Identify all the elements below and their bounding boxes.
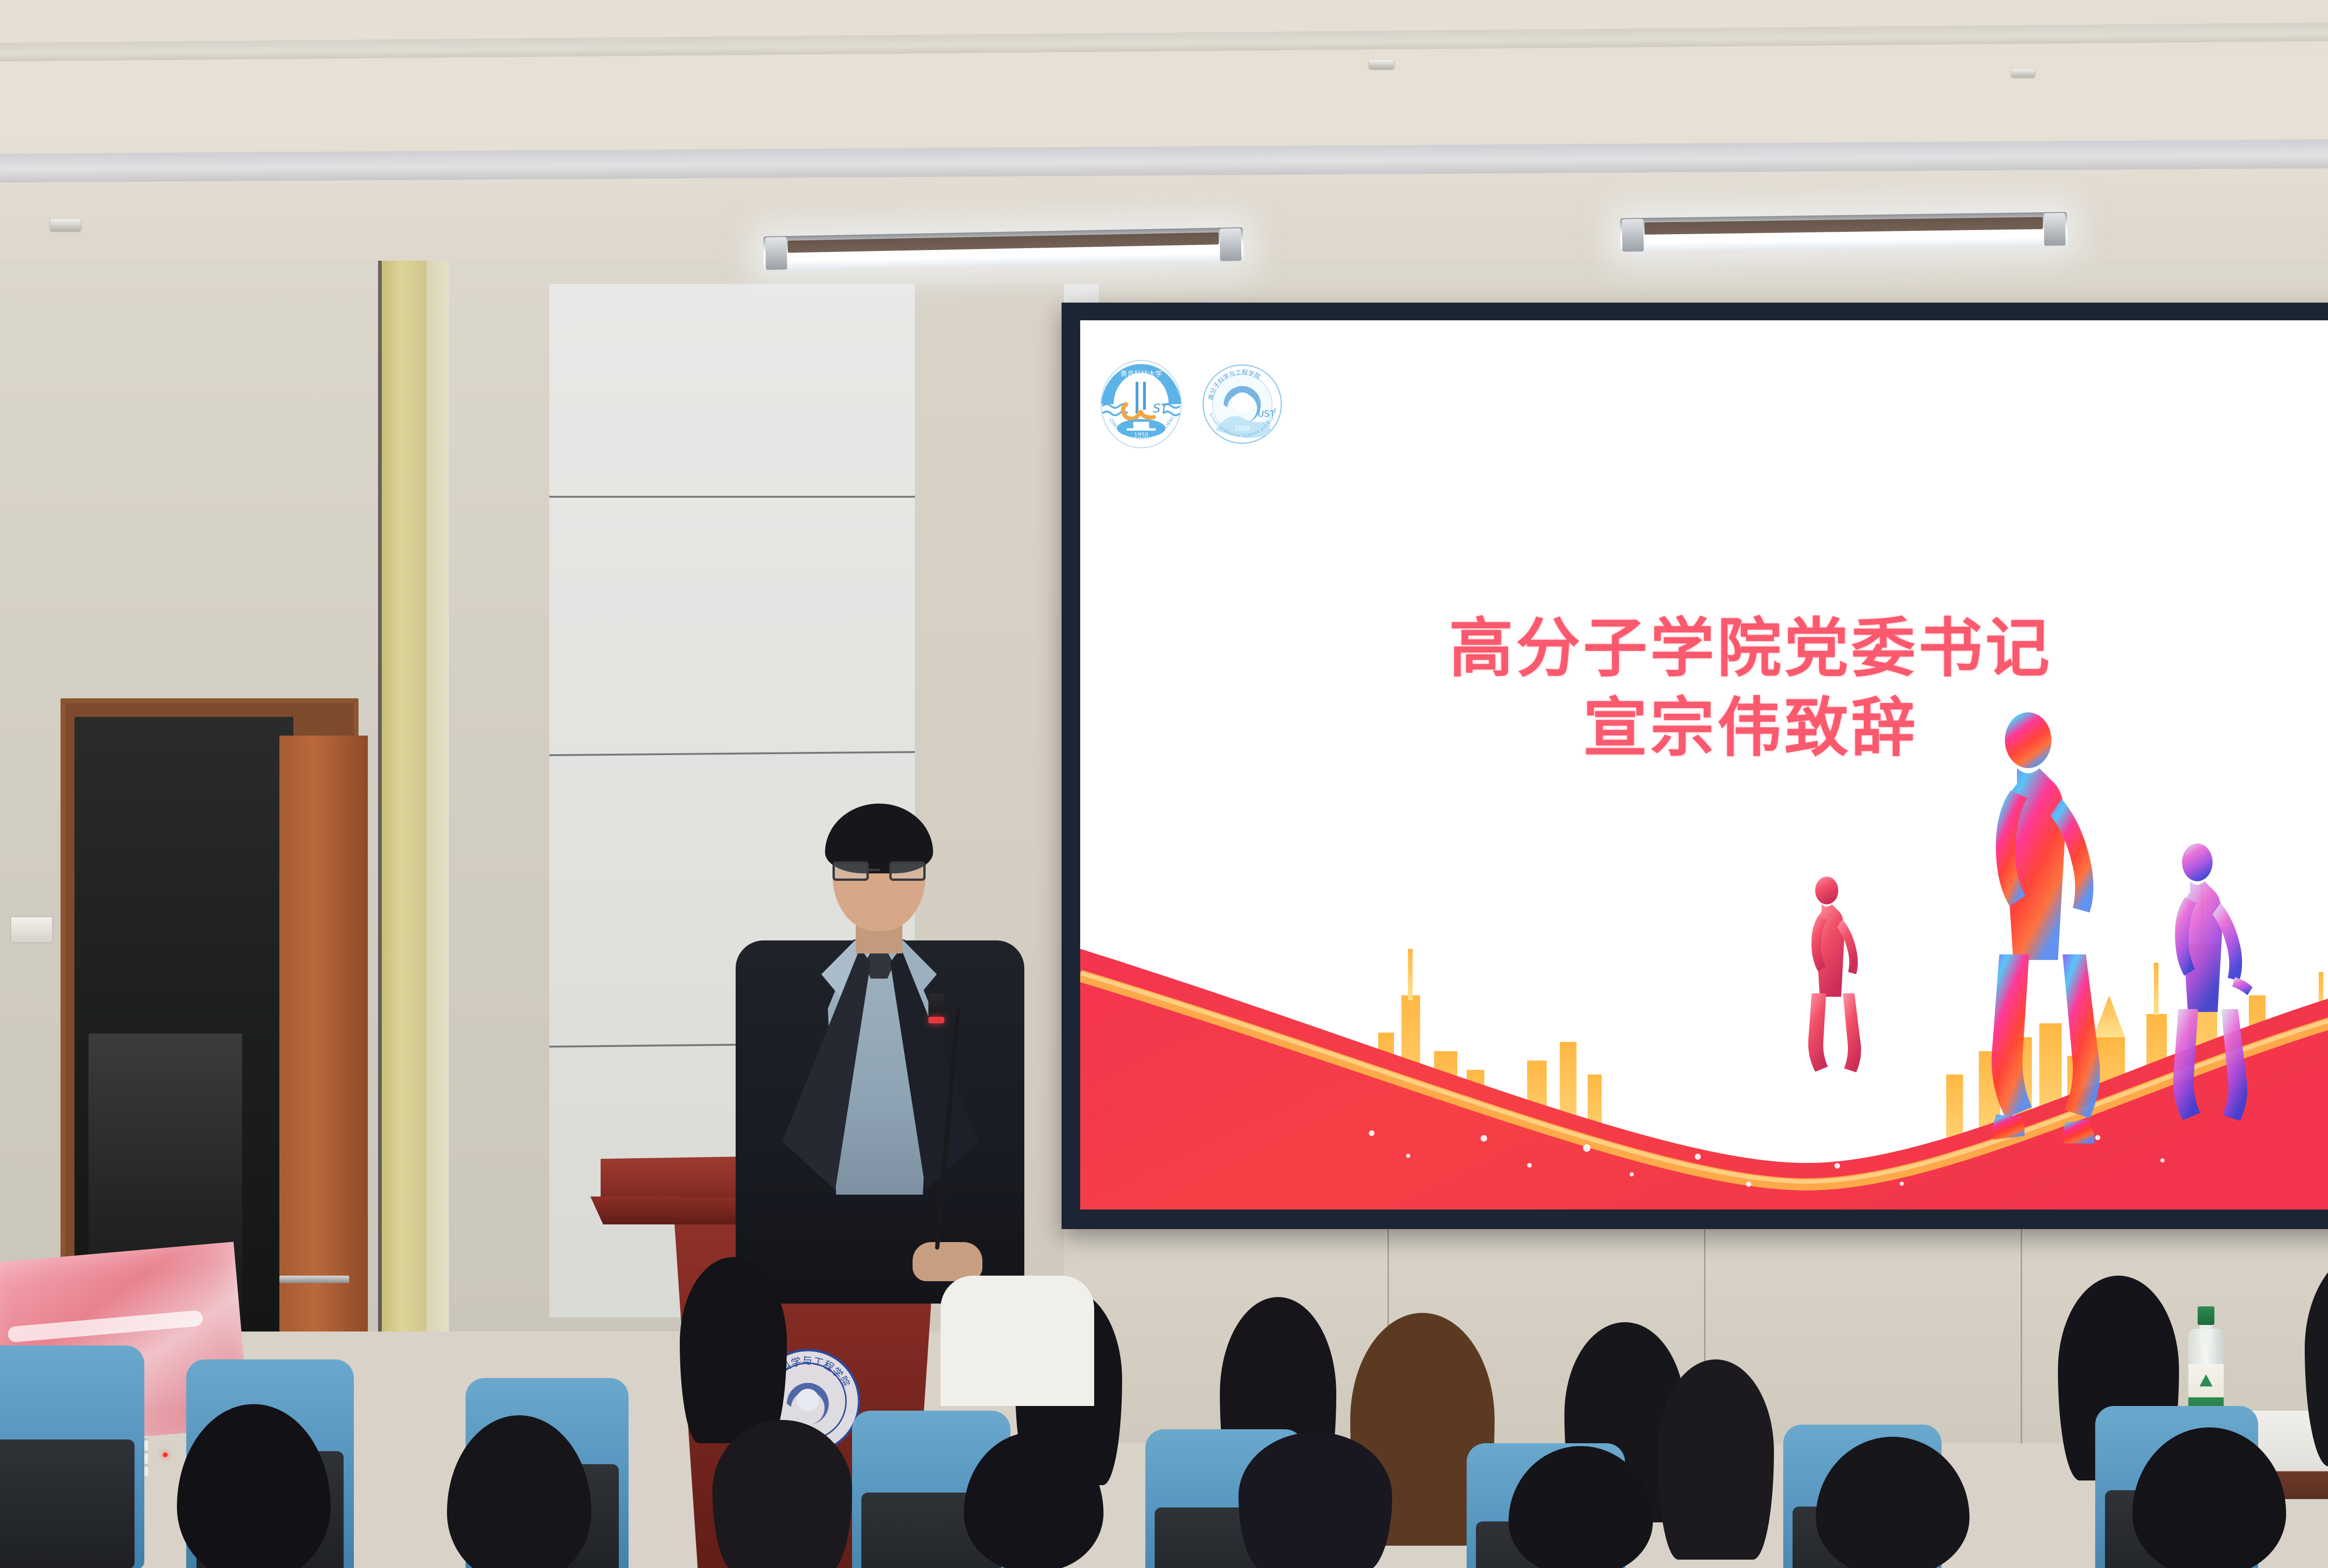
audience-head: [712, 1420, 852, 1568]
ceiling-vent-icon: [50, 219, 81, 231]
audience-head: [680, 1257, 787, 1443]
ceiling-vent-icon: [1369, 60, 1394, 69]
tube-light-cap: [1219, 228, 1241, 261]
auditorium-seat[interactable]: [0, 1345, 144, 1568]
door-leaf[interactable]: [279, 736, 368, 1331]
projection-screen: 青岛科技大学 ST 1950 QINGDAO UNIVERSITY OF SCI…: [1080, 320, 2328, 1210]
tube-light-core: [788, 232, 1219, 253]
svg-text:青岛科技大学: 青岛科技大学: [1120, 370, 1162, 378]
ceiling-vent-icon: [2011, 69, 2035, 77]
tube-light-cap: [2044, 213, 2065, 246]
eyeglass-bridge: [869, 869, 880, 871]
presenter-eyeglasses: [832, 861, 926, 882]
presenter: [708, 787, 1043, 1299]
ceiling-tube-light: [1620, 212, 2068, 252]
svg-text:ST: ST: [1153, 402, 1169, 416]
tube-light-core: [1644, 217, 2043, 235]
svg-text:1950: 1950: [1234, 426, 1250, 433]
tube-light-cap: [1622, 219, 1644, 252]
audience-area: [0, 1266, 2328, 1568]
auditorium-photograph: 青岛科技大学 ST 1950 QINGDAO UNIVERSITY OF SCI…: [0, 0, 2328, 1568]
qust-university-logo: 青岛科技大学 ST 1950 QINGDAO UNIVERSITY OF SCI…: [1098, 358, 1184, 451]
slide-runner-figures: [1080, 660, 2328, 1210]
tube-light-cap: [765, 237, 787, 270]
accent-pillar: [382, 261, 426, 1331]
audience-head: [2305, 1248, 2328, 1467]
eyeglass-lens-left: [832, 861, 869, 881]
polymer-school-logo: UST 1950 高分子科学与工程学院 School of Polymer Sc…: [1201, 360, 1283, 448]
microphone-status-led-icon: [928, 1017, 944, 1023]
audience-white-shirt: [941, 1276, 1094, 1406]
audience-head: [1658, 1359, 1774, 1560]
eyeglass-lens-right: [889, 861, 926, 881]
slide-logo-row: 青岛科技大学 ST 1950 QINGDAO UNIVERSITY OF SCI…: [1098, 358, 1283, 451]
audience-head: [1238, 1432, 1392, 1568]
accent-pillar-light: [426, 261, 449, 1331]
light-switch[interactable]: [10, 916, 53, 943]
seat-headrest: [0, 1440, 135, 1568]
